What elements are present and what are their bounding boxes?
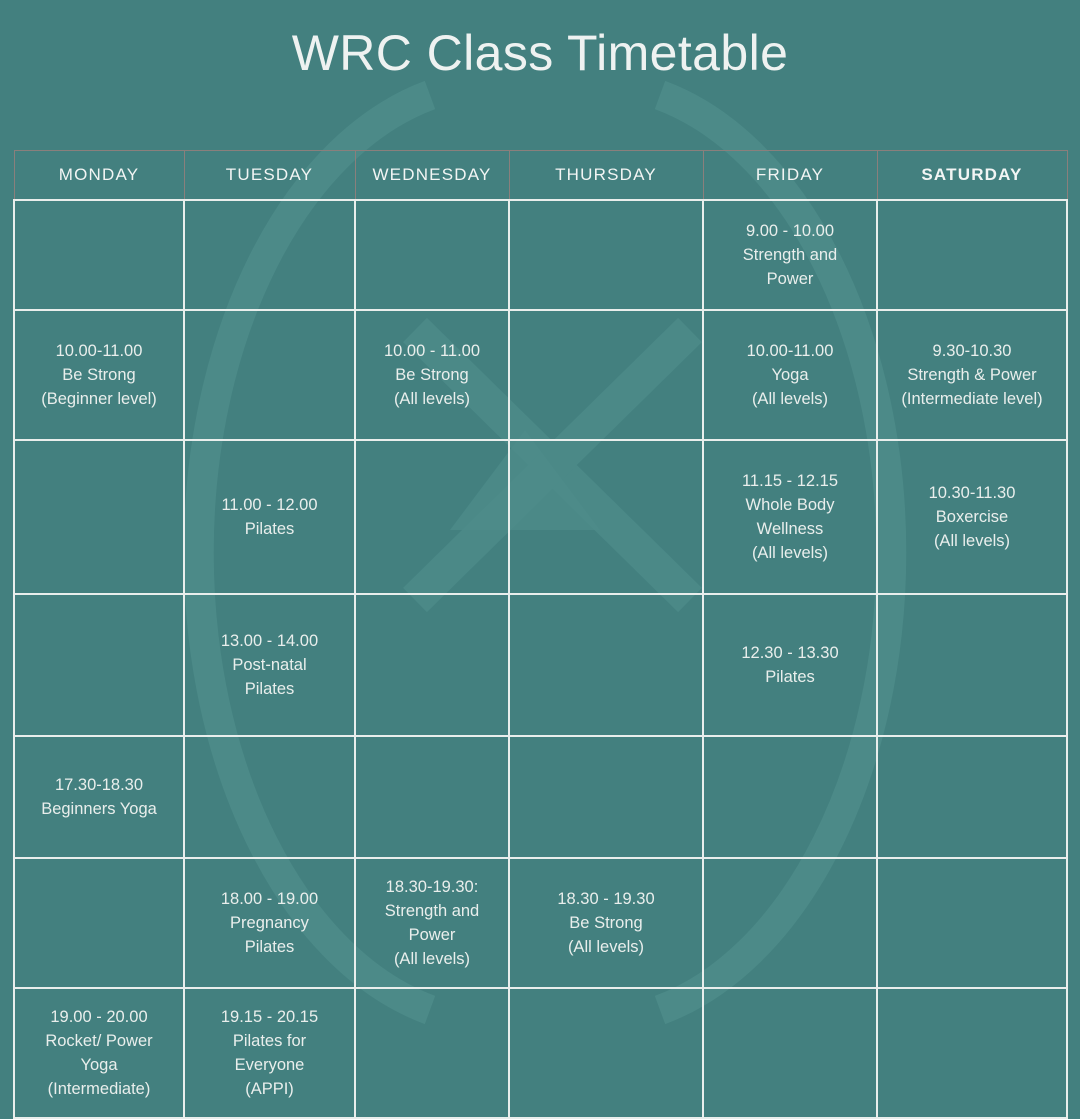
class-cell-friday	[703, 736, 877, 858]
class-timetable: MONDAY TUESDAY WEDNESDAY THURSDAY FRIDAY…	[13, 150, 1068, 1119]
table-row: 17.30-18.30 Beginners Yoga	[14, 736, 1067, 858]
class-cell-tuesday: 18.00 - 19.00 Pregnancy Pilates	[184, 858, 355, 988]
page-title: WRC Class Timetable	[0, 26, 1080, 81]
class-cell-friday: 9.00 - 10.00 Strength and Power	[703, 200, 877, 310]
class-cell-friday: 10.00-11.00 Yoga (All levels)	[703, 310, 877, 440]
class-cell-saturday	[877, 858, 1067, 988]
class-cell-saturday	[877, 200, 1067, 310]
class-cell-thursday	[509, 736, 703, 858]
column-header-saturday: SATURDAY	[877, 151, 1067, 201]
class-cell-thursday	[509, 310, 703, 440]
class-cell-thursday	[509, 440, 703, 594]
column-header-friday: FRIDAY	[703, 151, 877, 201]
table-row: 13.00 - 14.00 Post-natal Pilates 12.30 -…	[14, 594, 1067, 736]
class-cell-monday	[14, 858, 184, 988]
class-cell-friday: 11.15 - 12.15 Whole Body Wellness (All l…	[703, 440, 877, 594]
class-cell-saturday	[877, 594, 1067, 736]
class-cell-thursday	[509, 988, 703, 1118]
class-cell-monday	[14, 440, 184, 594]
table-row: 18.00 - 19.00 Pregnancy Pilates 18.30-19…	[14, 858, 1067, 988]
class-cell-thursday	[509, 594, 703, 736]
class-cell-friday: 12.30 - 13.30 Pilates	[703, 594, 877, 736]
class-cell-wednesday	[355, 988, 509, 1118]
class-cell-monday: 10.00-11.00 Be Strong (Beginner level)	[14, 310, 184, 440]
class-cell-tuesday: 19.15 - 20.15 Pilates for Everyone (APPI…	[184, 988, 355, 1118]
class-cell-wednesday	[355, 594, 509, 736]
class-cell-monday: 17.30-18.30 Beginners Yoga	[14, 736, 184, 858]
class-cell-monday	[14, 594, 184, 736]
class-cell-tuesday: 13.00 - 14.00 Post-natal Pilates	[184, 594, 355, 736]
table-row: 10.00-11.00 Be Strong (Beginner level) 1…	[14, 310, 1067, 440]
class-cell-saturday: 9.30-10.30 Strength & Power (Intermediat…	[877, 310, 1067, 440]
class-cell-thursday: 18.30 - 19.30 Be Strong (All levels)	[509, 858, 703, 988]
column-header-wednesday: WEDNESDAY	[355, 151, 509, 201]
class-cell-monday	[14, 200, 184, 310]
class-cell-wednesday	[355, 440, 509, 594]
class-cell-wednesday	[355, 200, 509, 310]
class-cell-saturday	[877, 988, 1067, 1118]
class-cell-tuesday	[184, 736, 355, 858]
class-cell-saturday	[877, 736, 1067, 858]
class-cell-monday: 19.00 - 20.00 Rocket/ Power Yoga (Interm…	[14, 988, 184, 1118]
table-row: 19.00 - 20.00 Rocket/ Power Yoga (Interm…	[14, 988, 1067, 1118]
class-cell-wednesday: 10.00 - 11.00 Be Strong (All levels)	[355, 310, 509, 440]
timetable-page: WRC Class Timetable MONDAY TUESDAY WEDNE…	[0, 0, 1080, 1080]
column-header-monday: MONDAY	[14, 151, 184, 201]
class-cell-tuesday	[184, 310, 355, 440]
timetable-header-row: MONDAY TUESDAY WEDNESDAY THURSDAY FRIDAY…	[14, 151, 1067, 201]
class-cell-tuesday	[184, 200, 355, 310]
class-cell-wednesday: 18.30-19.30: Strength and Power (All lev…	[355, 858, 509, 988]
table-row: 9.00 - 10.00 Strength and Power	[14, 200, 1067, 310]
class-cell-wednesday	[355, 736, 509, 858]
class-cell-friday	[703, 988, 877, 1118]
class-cell-tuesday: 11.00 - 12.00 Pilates	[184, 440, 355, 594]
table-row: 11.00 - 12.00 Pilates 11.15 - 12.15 Whol…	[14, 440, 1067, 594]
column-header-thursday: THURSDAY	[509, 151, 703, 201]
class-cell-saturday: 10.30-11.30 Boxercise (All levels)	[877, 440, 1067, 594]
column-header-tuesday: TUESDAY	[184, 151, 355, 201]
class-cell-thursday	[509, 200, 703, 310]
class-cell-friday	[703, 858, 877, 988]
